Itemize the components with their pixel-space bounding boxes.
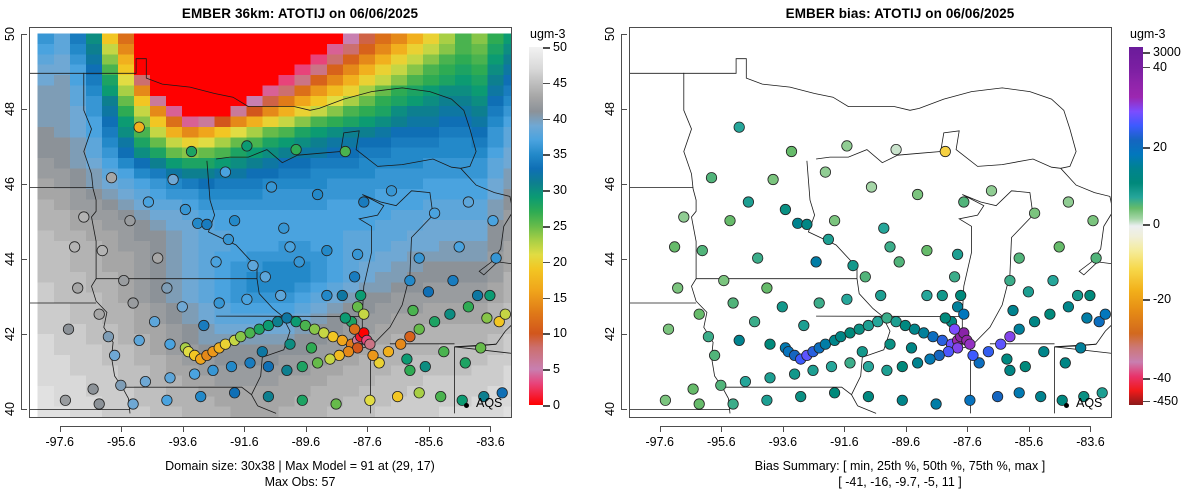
observation-site-marker[interactable]: [463, 302, 473, 312]
observation-site-marker[interactable]: [799, 320, 809, 330]
observation-site-marker[interactable]: [1085, 290, 1095, 300]
observation-site-marker[interactable]: [940, 313, 950, 323]
colorbar-tick: [543, 154, 550, 156]
observation-site-marker[interactable]: [949, 324, 959, 334]
observation-site-marker[interactable]: [312, 189, 322, 199]
observation-site-marker[interactable]: [1005, 365, 1015, 375]
observation-site-marker[interactable]: [165, 339, 175, 349]
observation-site-marker[interactable]: [128, 298, 138, 308]
observation-site-marker[interactable]: [396, 339, 406, 349]
colorbar-gradient: [529, 47, 543, 405]
observation-site-marker[interactable]: [386, 186, 396, 196]
colorbar-tick: [543, 369, 550, 371]
observation-site-marker[interactable]: [276, 290, 286, 300]
observation-site-marker[interactable]: [223, 234, 233, 244]
observation-site-marker[interactable]: [996, 339, 1006, 349]
observation-site-marker[interactable]: [436, 391, 446, 401]
observation-site-marker[interactable]: [768, 174, 778, 184]
observation-site-marker[interactable]: [263, 320, 273, 330]
colorbar-tick: [1143, 147, 1150, 149]
observation-site-marker[interactable]: [485, 290, 495, 300]
aqs-legend-label: AQS: [1076, 396, 1102, 410]
x-axis-tick-label: -93.6: [769, 435, 798, 449]
observation-site-marker[interactable]: [906, 343, 916, 353]
observation-site-marker[interactable]: [992, 391, 1002, 401]
observation-site-marker[interactable]: [749, 317, 759, 327]
observation-site-marker[interactable]: [109, 350, 119, 360]
observation-site-marker[interactable]: [285, 339, 295, 349]
observation-site-marker[interactable]: [340, 146, 350, 156]
aqs-legend-dot: [1064, 403, 1069, 408]
observation-site-marker[interactable]: [454, 242, 464, 252]
observation-site-marker[interactable]: [352, 249, 362, 259]
x-axis-tick: [429, 426, 430, 432]
observation-site-marker[interactable]: [263, 361, 273, 371]
observation-site-marker[interactable]: [349, 272, 359, 282]
observation-site-marker[interactable]: [719, 275, 729, 285]
observation-site-marker[interactable]: [491, 253, 501, 263]
observation-site-marker[interactable]: [863, 320, 873, 330]
observation-site-marker[interactable]: [786, 146, 796, 156]
observation-site-marker[interactable]: [226, 361, 236, 371]
observation-site-marker[interactable]: [229, 388, 239, 398]
observation-site-marker[interactable]: [1072, 290, 1082, 300]
observation-site-marker[interactable]: [857, 347, 867, 357]
observation-site-marker[interactable]: [885, 242, 895, 252]
observation-site-marker[interactable]: [922, 245, 932, 255]
observation-site-marker[interactable]: [1088, 216, 1098, 226]
x-axis-tick-label: -85.6: [1015, 435, 1044, 449]
observation-site-marker[interactable]: [900, 320, 910, 330]
colorbar-tick: [1143, 378, 1150, 380]
observation-site-marker[interactable]: [894, 257, 904, 267]
observation-site-marker[interactable]: [365, 395, 375, 405]
observation-site-marker[interactable]: [879, 223, 889, 233]
observation-site-marker[interactable]: [405, 365, 415, 375]
colorbar-tick-label: 0: [553, 398, 560, 412]
observation-site-marker[interactable]: [125, 216, 135, 226]
observation-site-marker[interactable]: [476, 343, 486, 353]
x-axis-tick: [967, 426, 968, 432]
colorbar-tick: [1143, 52, 1150, 54]
observation-site-marker[interactable]: [328, 332, 338, 342]
observation-site-marker[interactable]: [912, 358, 922, 368]
observation-site-marker[interactable]: [808, 365, 818, 375]
observation-site-marker[interactable]: [789, 369, 799, 379]
observation-site-marker[interactable]: [423, 287, 433, 297]
observation-site-marker[interactable]: [242, 294, 252, 304]
observation-site-marker[interactable]: [472, 290, 482, 300]
observation-site-marker[interactable]: [765, 373, 775, 383]
observation-site-marker[interactable]: [965, 339, 975, 349]
observation-site-marker[interactable]: [463, 197, 473, 207]
observation-site-marker[interactable]: [429, 208, 439, 218]
observation-site-marker[interactable]: [836, 332, 846, 342]
observation-site-marker[interactable]: [1002, 354, 1012, 364]
panel-bias-caption-line2: [ -41, -16, -9.7, -5, 11 ]: [600, 474, 1200, 490]
observation-site-marker[interactable]: [322, 290, 332, 300]
observation-site-marker[interactable]: [842, 141, 852, 151]
observation-site-marker[interactable]: [119, 275, 129, 285]
colorbar-tick: [543, 298, 550, 300]
observation-site-marker[interactable]: [325, 354, 335, 364]
observation-site-marker[interactable]: [949, 272, 959, 282]
observation-site-marker[interactable]: [762, 283, 772, 293]
observation-site-marker[interactable]: [193, 218, 203, 228]
observation-site-marker[interactable]: [134, 122, 144, 132]
observation-site-marker[interactable]: [140, 376, 150, 386]
panel-model-title: EMBER 36km: ATOTIJ on 06/06/2025: [0, 6, 600, 21]
observation-site-marker[interactable]: [703, 332, 713, 342]
observation-site-marker[interactable]: [420, 361, 430, 371]
observation-site-marker[interactable]: [959, 197, 969, 207]
observation-site-marker[interactable]: [408, 305, 418, 315]
observation-site-marker[interactable]: [780, 204, 790, 214]
observation-site-marker[interactable]: [986, 186, 996, 196]
observation-site-marker[interactable]: [1014, 324, 1024, 334]
colorbar-gradient: [1129, 47, 1143, 405]
observation-site-marker[interactable]: [882, 365, 892, 375]
observation-site-marker[interactable]: [153, 253, 163, 263]
x-axis-tick: [906, 426, 907, 432]
observation-site-marker[interactable]: [1029, 317, 1039, 327]
x-axis-tick-label: -89.6: [292, 435, 321, 449]
observation-site-marker[interactable]: [94, 309, 104, 319]
observation-site-marker[interactable]: [1054, 242, 1064, 252]
colorbar-tick: [1143, 401, 1150, 403]
colorbar-tick: [543, 226, 550, 228]
observation-site-marker[interactable]: [405, 275, 415, 285]
observation-site-marker[interactable]: [928, 332, 938, 342]
aqs-legend-dot: [464, 403, 469, 408]
x-axis-tick: [306, 426, 307, 432]
observation-site-marker[interactable]: [694, 309, 704, 319]
observation-site-marker[interactable]: [848, 260, 858, 270]
observation-site-marker[interactable]: [793, 218, 803, 228]
observation-site-marker[interactable]: [863, 391, 873, 401]
observation-site-marker[interactable]: [186, 146, 196, 156]
observation-site-marker[interactable]: [405, 332, 415, 342]
observation-site-marker[interactable]: [488, 216, 498, 226]
x-axis-tick-label: -87.6: [353, 435, 382, 449]
observation-site-marker[interactable]: [842, 294, 852, 304]
observation-site-marker[interactable]: [257, 347, 267, 357]
observation-site-marker[interactable]: [208, 365, 218, 375]
x-axis-tick-label: -83.6: [476, 435, 505, 449]
observation-site-marker[interactable]: [1023, 287, 1033, 297]
observation-site-marker[interactable]: [1036, 391, 1046, 401]
x-axis-tick-label: -91.6: [830, 435, 859, 449]
observation-site-marker[interactable]: [1060, 358, 1070, 368]
observation-site-marker[interactable]: [285, 242, 295, 252]
observation-site-marker[interactable]: [796, 391, 806, 401]
observation-site-marker[interactable]: [439, 347, 449, 357]
observation-site-marker[interactable]: [845, 358, 855, 368]
aqs-legend-label: AQS: [476, 396, 502, 410]
observation-site-marker[interactable]: [116, 380, 126, 390]
observation-site-marker[interactable]: [802, 219, 812, 229]
colorbar-tick: [543, 262, 550, 264]
observation-site-marker[interactable]: [500, 309, 510, 319]
colorbar-tick-label: -450: [1153, 394, 1178, 408]
observation-site-marker[interactable]: [306, 343, 316, 353]
observation-site-marker[interactable]: [359, 197, 369, 207]
observation-site-marker[interactable]: [814, 298, 824, 308]
observation-site-marker[interactable]: [220, 167, 230, 177]
panel-model: EMBER 36km: ATOTIJ on 06/06/2025 -97.6-9…: [0, 0, 600, 502]
observation-site-marker[interactable]: [94, 399, 104, 409]
observation-site-marker[interactable]: [297, 395, 307, 405]
observation-site-marker[interactable]: [429, 317, 439, 327]
x-axis-line: [660, 426, 1091, 427]
observation-site-marker[interactable]: [820, 167, 830, 177]
observation-site-marker[interactable]: [829, 388, 839, 398]
colorbar-tick-label: 20: [1153, 140, 1167, 154]
observation-site-marker[interactable]: [897, 361, 907, 371]
observation-site-marker[interactable]: [180, 204, 190, 214]
observation-site-marker[interactable]: [1020, 361, 1030, 371]
observation-site-marker[interactable]: [245, 358, 255, 368]
observation-site-marker[interactable]: [940, 146, 950, 156]
observation-site-marker[interactable]: [1082, 313, 1092, 323]
observation-site-marker[interactable]: [762, 395, 772, 405]
colorbar-tick-label: 40: [553, 112, 567, 126]
panel-bias-plot-frame[interactable]: [629, 27, 1112, 418]
x-axis-line: [60, 426, 491, 427]
x-axis-tick: [783, 426, 784, 432]
observation-site-marker[interactable]: [260, 272, 270, 282]
colorbar-tick: [1143, 299, 1150, 301]
colorbar-units-label: ugm-3: [530, 27, 565, 41]
observation-site-marker[interactable]: [860, 272, 870, 282]
colorbar-tick-label: 40: [1153, 60, 1167, 74]
observation-site-marker[interactable]: [128, 399, 138, 409]
x-axis-tick-label: -93.6: [169, 435, 198, 449]
observation-site-marker[interactable]: [734, 335, 744, 345]
x-axis-tick-label: -85.6: [415, 435, 444, 449]
observation-site-marker[interactable]: [392, 391, 402, 401]
observation-site-marker[interactable]: [866, 182, 876, 192]
panel-model-plot-frame[interactable]: [29, 27, 512, 418]
observation-site-marker[interactable]: [937, 290, 947, 300]
panel-bias-caption-line1: Bias Summary: [ min, 25th %, 50th %, 75t…: [600, 458, 1200, 474]
observation-site-marker[interactable]: [965, 395, 975, 405]
observation-site-marker[interactable]: [734, 122, 744, 132]
observation-site-marker[interactable]: [765, 339, 775, 349]
observation-site-marker[interactable]: [349, 324, 359, 334]
x-axis-tick: [721, 426, 722, 432]
observation-site-marker[interactable]: [263, 391, 273, 401]
observation-site-marker[interactable]: [165, 373, 175, 383]
observation-site-marker[interactable]: [743, 197, 753, 207]
observation-site-marker[interactable]: [196, 391, 206, 401]
observation-site-marker[interactable]: [829, 216, 839, 226]
colorbar-tick-label: -40: [1153, 371, 1171, 385]
observation-site-marker[interactable]: [402, 354, 412, 364]
observation-site-marker[interactable]: [331, 399, 341, 409]
observation-site-marker[interactable]: [162, 395, 172, 405]
observation-site-marker[interactable]: [143, 197, 153, 207]
observation-site-marker[interactable]: [922, 290, 932, 300]
observation-site-marker[interactable]: [340, 313, 350, 323]
colorbar-tick-label: 15: [553, 291, 567, 305]
observation-site-marker[interactable]: [697, 245, 707, 255]
colorbar-tick: [543, 83, 550, 85]
panel-model-caption-line1: Domain size: 30x38 | Max Model = 91 at (…: [0, 458, 600, 474]
x-axis-tick: [183, 426, 184, 432]
figure-root: EMBER 36km: ATOTIJ on 06/06/2025 -97.6-9…: [0, 0, 1200, 502]
panel-model-caption-line2: Max Obs: 57: [0, 474, 600, 490]
observation-site-marker[interactable]: [294, 257, 304, 267]
observation-site-marker[interactable]: [1005, 275, 1015, 285]
observation-site-marker[interactable]: [716, 380, 726, 390]
observation-site-marker[interactable]: [279, 223, 289, 233]
observation-site-marker[interactable]: [876, 290, 886, 300]
observation-site-marker[interactable]: [912, 189, 922, 199]
observation-site-marker[interactable]: [482, 313, 492, 323]
observation-site-marker[interactable]: [414, 253, 424, 263]
observation-site-marker[interactable]: [134, 335, 144, 345]
observation-site-marker[interactable]: [97, 245, 107, 255]
observation-site-marker[interactable]: [897, 395, 907, 405]
observation-site-marker[interactable]: [383, 347, 393, 357]
observation-site-marker[interactable]: [103, 332, 113, 342]
colorbar-tick-label: 45: [553, 76, 567, 90]
model-grid-cells: [38, 34, 512, 418]
observation-site-marker[interactable]: [1076, 343, 1086, 353]
colorbar-tick: [543, 333, 550, 335]
observation-site-marker[interactable]: [356, 290, 366, 300]
colorbar-tick: [543, 119, 550, 121]
observation-site-marker[interactable]: [248, 260, 258, 270]
observation-site-marker[interactable]: [1048, 275, 1058, 285]
observation-site-marker[interactable]: [959, 309, 969, 319]
observation-points[interactable]: [660, 122, 1110, 409]
observation-site-marker[interactable]: [811, 257, 821, 267]
x-axis-tick-label: -95.6: [707, 435, 736, 449]
observation-site-marker[interactable]: [885, 339, 895, 349]
observation-site-marker[interactable]: [300, 320, 310, 330]
observation-site-marker[interactable]: [983, 347, 993, 357]
observation-site-marker[interactable]: [365, 339, 375, 349]
observation-site-marker[interactable]: [925, 354, 935, 364]
observation-site-marker[interactable]: [236, 332, 246, 342]
observation-site-marker[interactable]: [826, 361, 836, 371]
observation-site-marker[interactable]: [740, 376, 750, 386]
colorbar-tick-label: 30: [553, 183, 567, 197]
observation-site-marker[interactable]: [168, 174, 178, 184]
observation-site-marker[interactable]: [214, 298, 224, 308]
panel-bias-colorbar: ugm-3-450-40-20020403000: [600, 0, 690, 460]
observation-site-marker[interactable]: [291, 144, 301, 154]
observation-site-marker[interactable]: [1005, 332, 1015, 342]
bias-map: [630, 28, 1112, 418]
x-axis-tick-label: -95.6: [107, 435, 136, 449]
observation-site-marker[interactable]: [445, 309, 455, 319]
observation-site-marker[interactable]: [1029, 208, 1039, 218]
panel-bias: EMBER bias: ATOTIJ on 06/06/2025 -97.6-9…: [600, 0, 1200, 502]
observation-site-marker[interactable]: [725, 216, 735, 226]
panel-bias-title: EMBER bias: ATOTIJ on 06/06/2025: [600, 6, 1200, 21]
x-axis-tick: [367, 426, 368, 432]
observation-site-marker[interactable]: [706, 173, 716, 183]
observation-site-marker[interactable]: [297, 361, 307, 371]
observation-site-marker[interactable]: [968, 350, 978, 360]
colorbar-tick: [543, 405, 550, 407]
observation-site-marker[interactable]: [1045, 309, 1055, 319]
observation-site-marker[interactable]: [448, 275, 458, 285]
observation-site-marker[interactable]: [414, 388, 424, 398]
observation-site-marker[interactable]: [1039, 347, 1049, 357]
observation-site-marker[interactable]: [1008, 305, 1018, 315]
observation-site-marker[interactable]: [1063, 302, 1073, 312]
observation-site-marker[interactable]: [202, 219, 212, 229]
observation-site-marker[interactable]: [823, 234, 833, 244]
map-boundaries: [630, 59, 1112, 414]
observation-site-marker[interactable]: [1014, 253, 1024, 263]
observation-site-marker[interactable]: [956, 290, 966, 300]
observation-site-marker[interactable]: [242, 141, 252, 151]
observation-site-marker[interactable]: [199, 320, 209, 330]
observation-site-marker[interactable]: [414, 324, 424, 334]
observation-site-marker[interactable]: [891, 144, 901, 154]
x-axis-tick-label: -87.6: [953, 435, 982, 449]
observation-site-marker[interactable]: [1014, 388, 1024, 398]
observation-site-marker[interactable]: [229, 216, 239, 226]
colorbar-tick-label: 25: [553, 219, 567, 233]
observation-site-marker[interactable]: [282, 365, 292, 375]
observation-site-marker[interactable]: [1100, 309, 1110, 319]
observation-site-marker[interactable]: [337, 290, 347, 300]
x-axis-tick: [844, 426, 845, 432]
observation-site-marker[interactable]: [266, 182, 276, 192]
observation-site-marker[interactable]: [322, 245, 332, 255]
observation-site-marker[interactable]: [149, 317, 159, 327]
colorbar-tick-label: 5: [553, 362, 560, 376]
x-axis-tick: [490, 426, 491, 432]
observation-site-marker[interactable]: [312, 358, 322, 368]
observation-site-marker[interactable]: [162, 283, 172, 293]
x-axis-tick-label: -91.6: [230, 435, 259, 449]
observation-site-marker[interactable]: [863, 361, 873, 371]
observation-site-marker[interactable]: [189, 369, 199, 379]
observation-site-marker[interactable]: [368, 350, 378, 360]
observation-site-marker[interactable]: [694, 399, 704, 409]
observation-site-marker[interactable]: [777, 302, 787, 312]
colorbar-tick-label: 20: [553, 255, 567, 269]
colorbar-tick-label: 35: [553, 147, 567, 161]
observation-site-marker[interactable]: [709, 350, 719, 360]
x-axis-tick-label: -83.6: [1076, 435, 1105, 449]
observation-site-marker[interactable]: [753, 253, 763, 263]
observation-site-marker[interactable]: [728, 399, 738, 409]
observation-site-marker[interactable]: [1091, 253, 1101, 263]
observation-site-marker[interactable]: [211, 257, 221, 267]
colorbar-tick: [1143, 224, 1150, 226]
observation-site-marker[interactable]: [952, 249, 962, 259]
observation-site-marker[interactable]: [1063, 197, 1073, 207]
observation-site-marker[interactable]: [460, 358, 470, 368]
observation-site-marker[interactable]: [177, 302, 187, 312]
colorbar-tick-label: 50: [553, 40, 567, 54]
x-axis-tick: [121, 426, 122, 432]
observation-site-marker[interactable]: [106, 173, 116, 183]
observation-site-marker[interactable]: [728, 298, 738, 308]
observation-site-marker[interactable]: [931, 399, 941, 409]
x-axis-tick: [244, 426, 245, 432]
observation-site-marker[interactable]: [359, 309, 369, 319]
colorbar-units-label: ugm-3: [1130, 27, 1165, 41]
